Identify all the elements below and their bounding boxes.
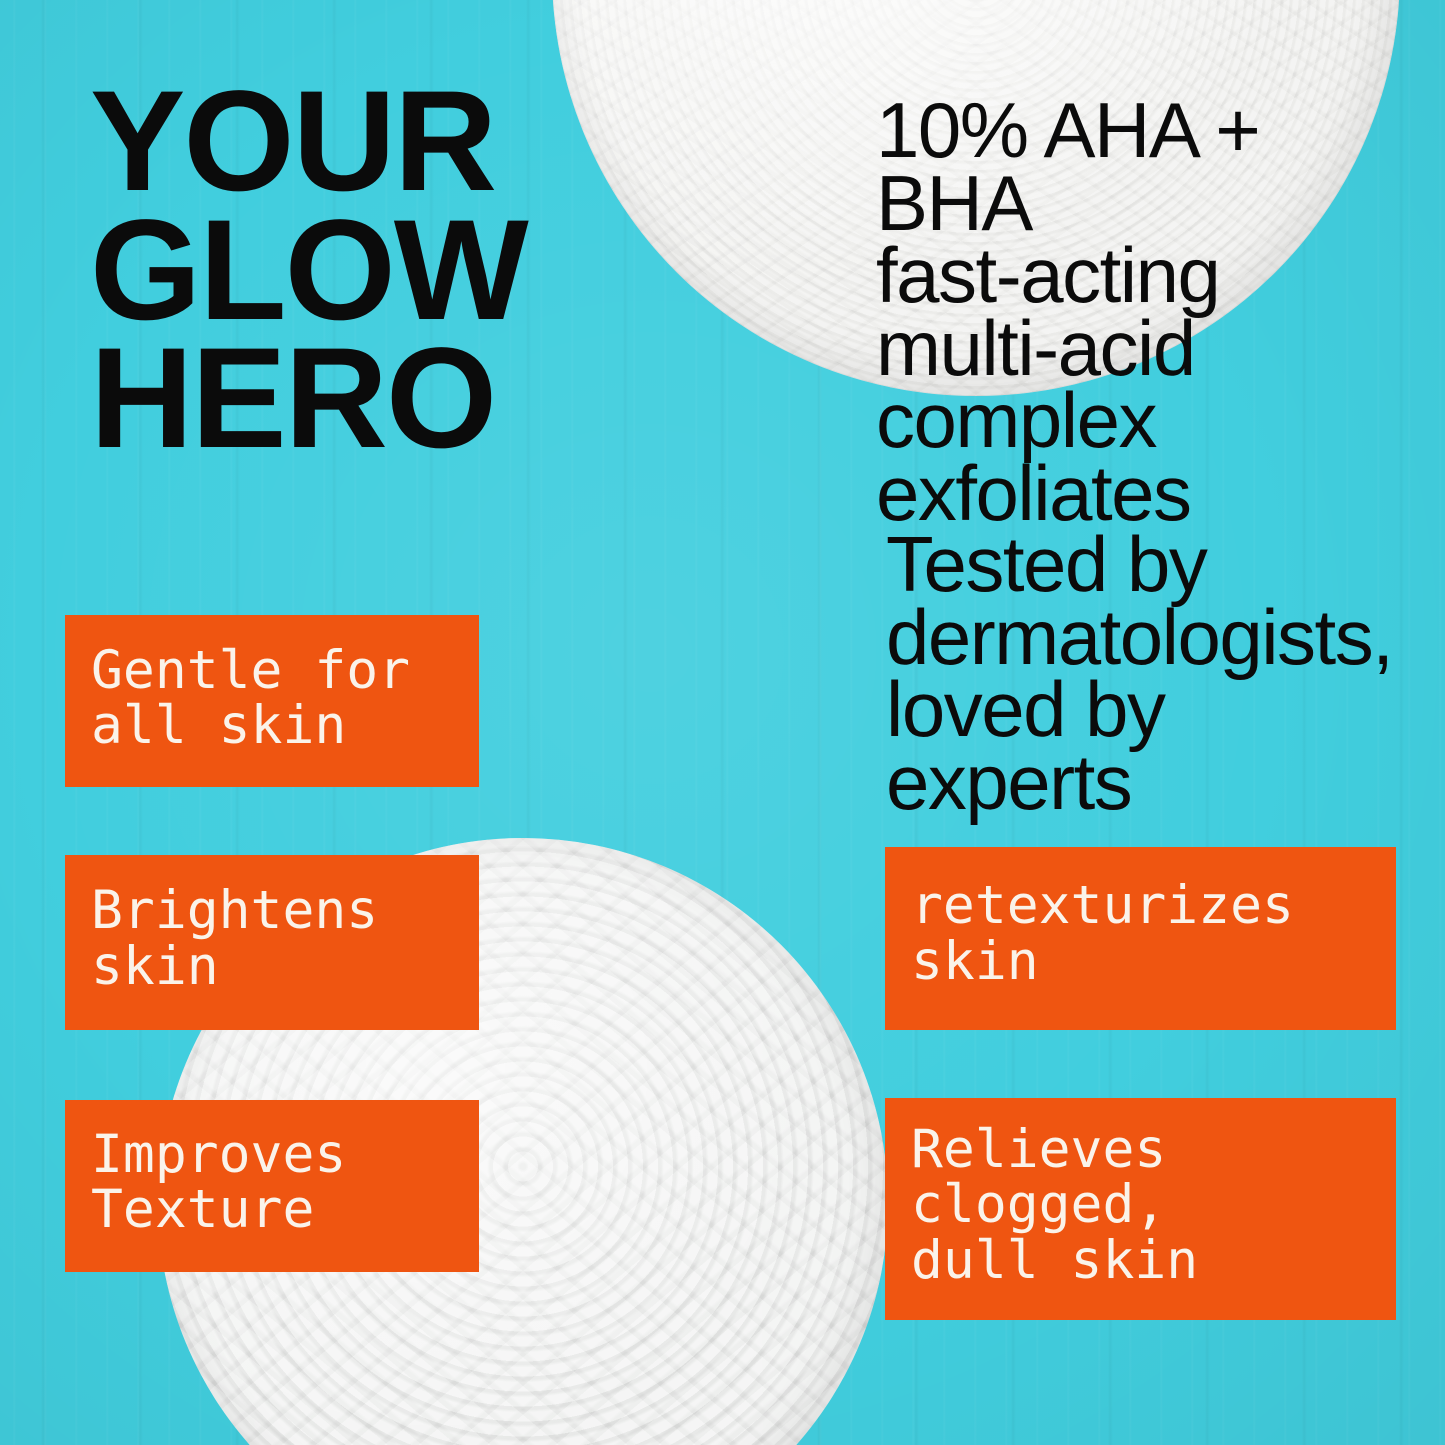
benefit-badge-texture-label: Improves Texture <box>91 1127 479 1237</box>
benefit-badge-gentle: Gentle for all skin <box>65 615 479 787</box>
benefit-badge-retexturizes-label: retexturizes skin <box>911 878 1396 988</box>
benefit-badge-texture: Improves Texture <box>65 1100 479 1272</box>
page-title: YOUR GLOW HERO <box>90 78 560 464</box>
benefit-badge-gentle-label: Gentle for all skin <box>91 643 479 753</box>
claim-text-dermatologists: Tested by dermatologists, loved by exper… <box>886 528 1445 818</box>
product-benefits-poster: YOUR GLOW HERO 10% AHA + BHA fast-acting… <box>0 0 1445 1445</box>
benefit-badge-retexturizes: retexturizes skin <box>885 847 1396 1030</box>
benefit-badge-brightens: Brightens skin <box>65 855 479 1030</box>
claim-text-acids: 10% AHA + BHA fast-acting multi-acid com… <box>876 94 1436 529</box>
benefit-badge-relieves: Relieves clogged, dull skin <box>885 1098 1396 1320</box>
benefit-badge-relieves-label: Relieves clogged, dull skin <box>911 1122 1396 1287</box>
benefit-badge-brightens-label: Brightens skin <box>91 883 479 993</box>
